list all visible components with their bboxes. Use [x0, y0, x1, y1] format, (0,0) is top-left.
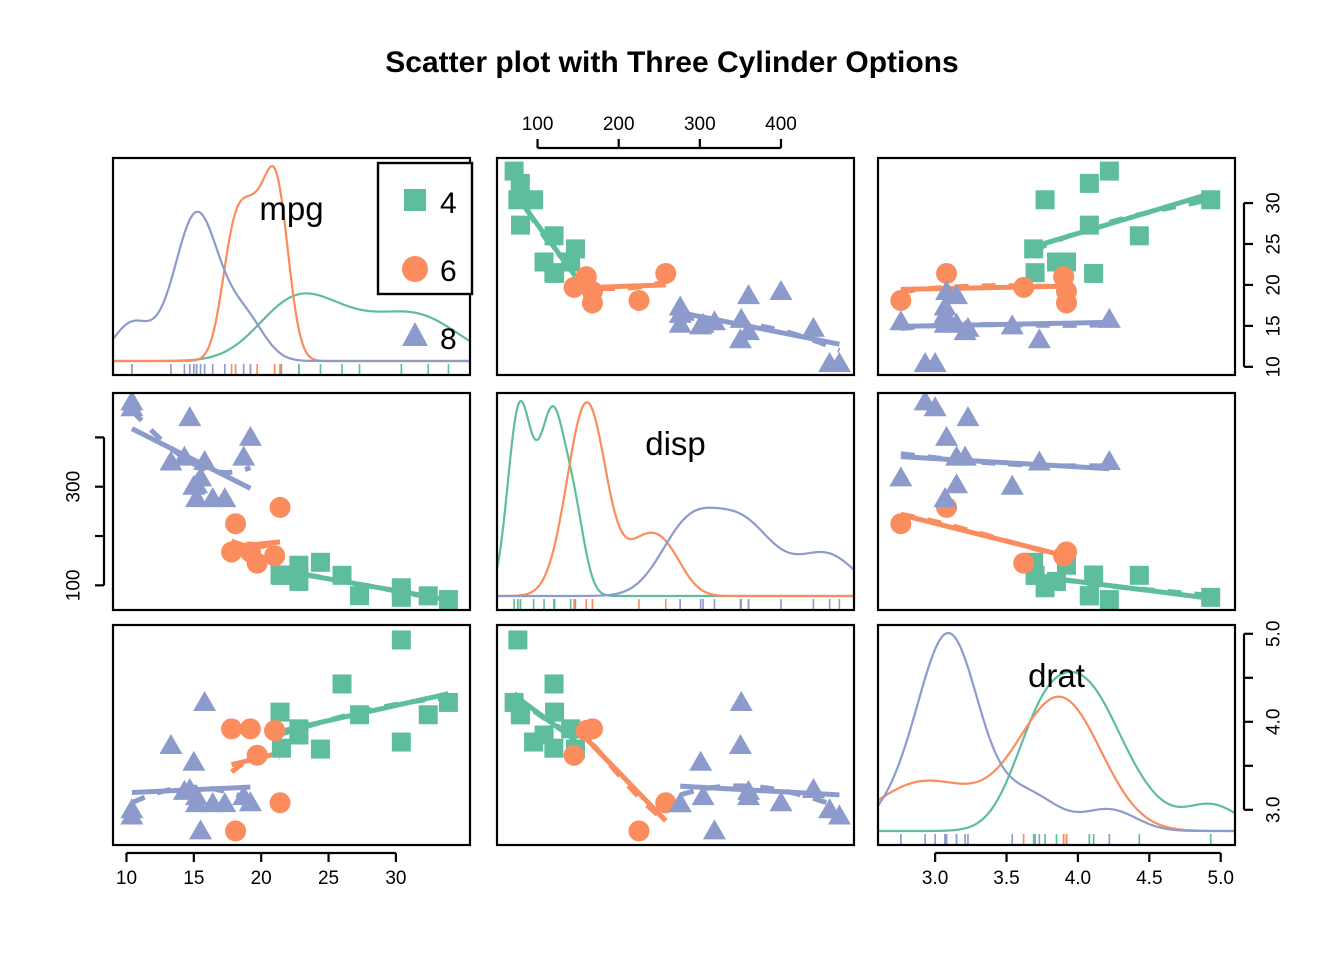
data-point-cyl4 — [505, 162, 524, 181]
data-point-cyl6 — [221, 542, 242, 563]
data-point-cyl6 — [1056, 292, 1077, 313]
data-point-cyl4 — [508, 630, 527, 649]
axis-tick-label: 300 — [64, 471, 85, 503]
axis-tick-label: 10 — [1264, 356, 1285, 377]
axis-tick-label: 15 — [183, 868, 204, 889]
axis-tick-label: 100 — [522, 114, 554, 135]
data-point-cyl4 — [1201, 588, 1220, 607]
axis-tick-label: 10 — [116, 868, 137, 889]
axis-tick-label: 4.0 — [1264, 709, 1285, 735]
data-point-cyl4 — [1100, 162, 1119, 181]
data-point-cyl4 — [511, 216, 530, 235]
splom-figure-root: Scatter plot with Three Cylinder Options… — [0, 0, 1344, 960]
axis-tick-label: 20 — [251, 868, 272, 889]
data-point-cyl6 — [225, 820, 246, 841]
data-point-cyl6 — [247, 553, 268, 574]
legend-label-6: 6 — [440, 255, 457, 288]
data-point-cyl4 — [1036, 578, 1055, 597]
axis-tick-label: 3.0 — [922, 868, 948, 889]
data-point-cyl4 — [289, 572, 308, 591]
data-point-cyl6 — [582, 292, 603, 313]
data-point-cyl4 — [350, 705, 369, 724]
data-point-cyl4 — [544, 739, 563, 758]
axis-tick-label: 300 — [684, 114, 716, 135]
data-point-cyl6 — [270, 792, 291, 813]
data-point-cyl4 — [1024, 239, 1043, 258]
data-point-cyl6 — [264, 720, 285, 741]
data-point-cyl6 — [1056, 542, 1077, 563]
data-point-cyl6 — [221, 718, 242, 739]
data-point-cyl4 — [392, 578, 411, 597]
data-point-cyl6 — [225, 513, 246, 534]
axis-tick-label: 20 — [1264, 274, 1285, 295]
axis-tick-label: 30 — [1264, 192, 1285, 213]
data-point-cyl4 — [271, 703, 290, 722]
data-point-cyl4 — [1080, 174, 1099, 193]
data-point-cyl4 — [392, 733, 411, 752]
axis-tick-label: 4.5 — [1136, 868, 1162, 889]
data-point-cyl6 — [890, 513, 911, 534]
diagonal-label-disp: disp — [645, 425, 706, 462]
data-point-cyl6 — [655, 263, 676, 284]
data-point-cyl4 — [1036, 190, 1055, 209]
data-point-cyl4 — [333, 674, 352, 693]
scatter-plot-matrix: Scatter plot with Three Cylinder Options… — [0, 0, 1344, 960]
data-point-cyl4 — [1084, 565, 1103, 584]
data-point-cyl4 — [271, 565, 290, 584]
data-point-cyl4 — [1130, 226, 1149, 245]
data-point-cyl4 — [311, 740, 330, 759]
data-point-cyl6 — [1013, 277, 1034, 298]
axis-tick-label: 100 — [64, 569, 85, 601]
data-point-cyl4 — [350, 586, 369, 605]
data-point-cyl4 — [545, 264, 564, 283]
data-point-cyl4 — [1100, 590, 1119, 609]
axis-tick-label: 3.5 — [993, 868, 1019, 889]
data-point-cyl4 — [1201, 190, 1220, 209]
data-point-cyl4 — [545, 674, 564, 693]
data-point-cyl6 — [1013, 553, 1034, 574]
data-point-cyl4 — [289, 719, 308, 738]
data-point-cyl6 — [247, 745, 268, 766]
diagonal-label-drat: drat — [1028, 657, 1085, 694]
data-point-cyl4 — [333, 566, 352, 585]
legend-label-8: 8 — [440, 323, 457, 356]
data-point-cyl4 — [1130, 566, 1149, 585]
data-point-cyl6 — [582, 718, 603, 739]
data-point-cyl4 — [439, 693, 458, 712]
axis-tick-label: 200 — [603, 114, 635, 135]
data-point-cyl4 — [545, 703, 564, 722]
axis-tick-label: 4.0 — [1065, 868, 1091, 889]
data-point-cyl4 — [545, 226, 564, 245]
data-point-cyl4 — [392, 630, 411, 649]
data-point-cyl4 — [1080, 586, 1099, 605]
data-point-cyl4 — [419, 705, 438, 724]
legend-swatch-square-icon — [404, 189, 426, 211]
axis-tick-label: 3.0 — [1264, 797, 1285, 823]
data-point-cyl6 — [564, 277, 585, 298]
data-point-cyl4 — [439, 590, 458, 609]
data-point-cyl6 — [890, 290, 911, 311]
axis-tick-label: 400 — [765, 114, 797, 135]
data-point-cyl4 — [524, 733, 543, 752]
axis-tick-label: 5.0 — [1264, 621, 1285, 647]
data-point-cyl4 — [272, 739, 291, 758]
axis-tick-label: 25 — [318, 868, 339, 889]
axis-tick-label: 5.0 — [1208, 868, 1234, 889]
data-point-cyl6 — [628, 820, 649, 841]
data-point-cyl4 — [1084, 264, 1103, 283]
data-point-cyl6 — [240, 718, 261, 739]
data-point-cyl6 — [564, 745, 585, 766]
data-point-cyl4 — [511, 705, 530, 724]
legend-label-4: 4 — [440, 187, 457, 220]
data-point-cyl4 — [1080, 216, 1099, 235]
data-point-cyl4 — [524, 190, 543, 209]
axis-tick-label: 30 — [385, 868, 406, 889]
diagonal-label-mpg: mpg — [259, 190, 323, 227]
axis-tick-label: 15 — [1264, 315, 1285, 336]
data-point-cyl6 — [270, 497, 291, 518]
data-point-cyl4 — [419, 586, 438, 605]
legend-swatch-circle-icon — [402, 256, 428, 282]
data-point-cyl4 — [289, 556, 308, 575]
page-title: Scatter plot with Three Cylinder Options — [385, 46, 958, 79]
data-point-cyl4 — [311, 553, 330, 572]
axis-tick-label: 25 — [1264, 233, 1285, 254]
data-point-cyl6 — [628, 290, 649, 311]
